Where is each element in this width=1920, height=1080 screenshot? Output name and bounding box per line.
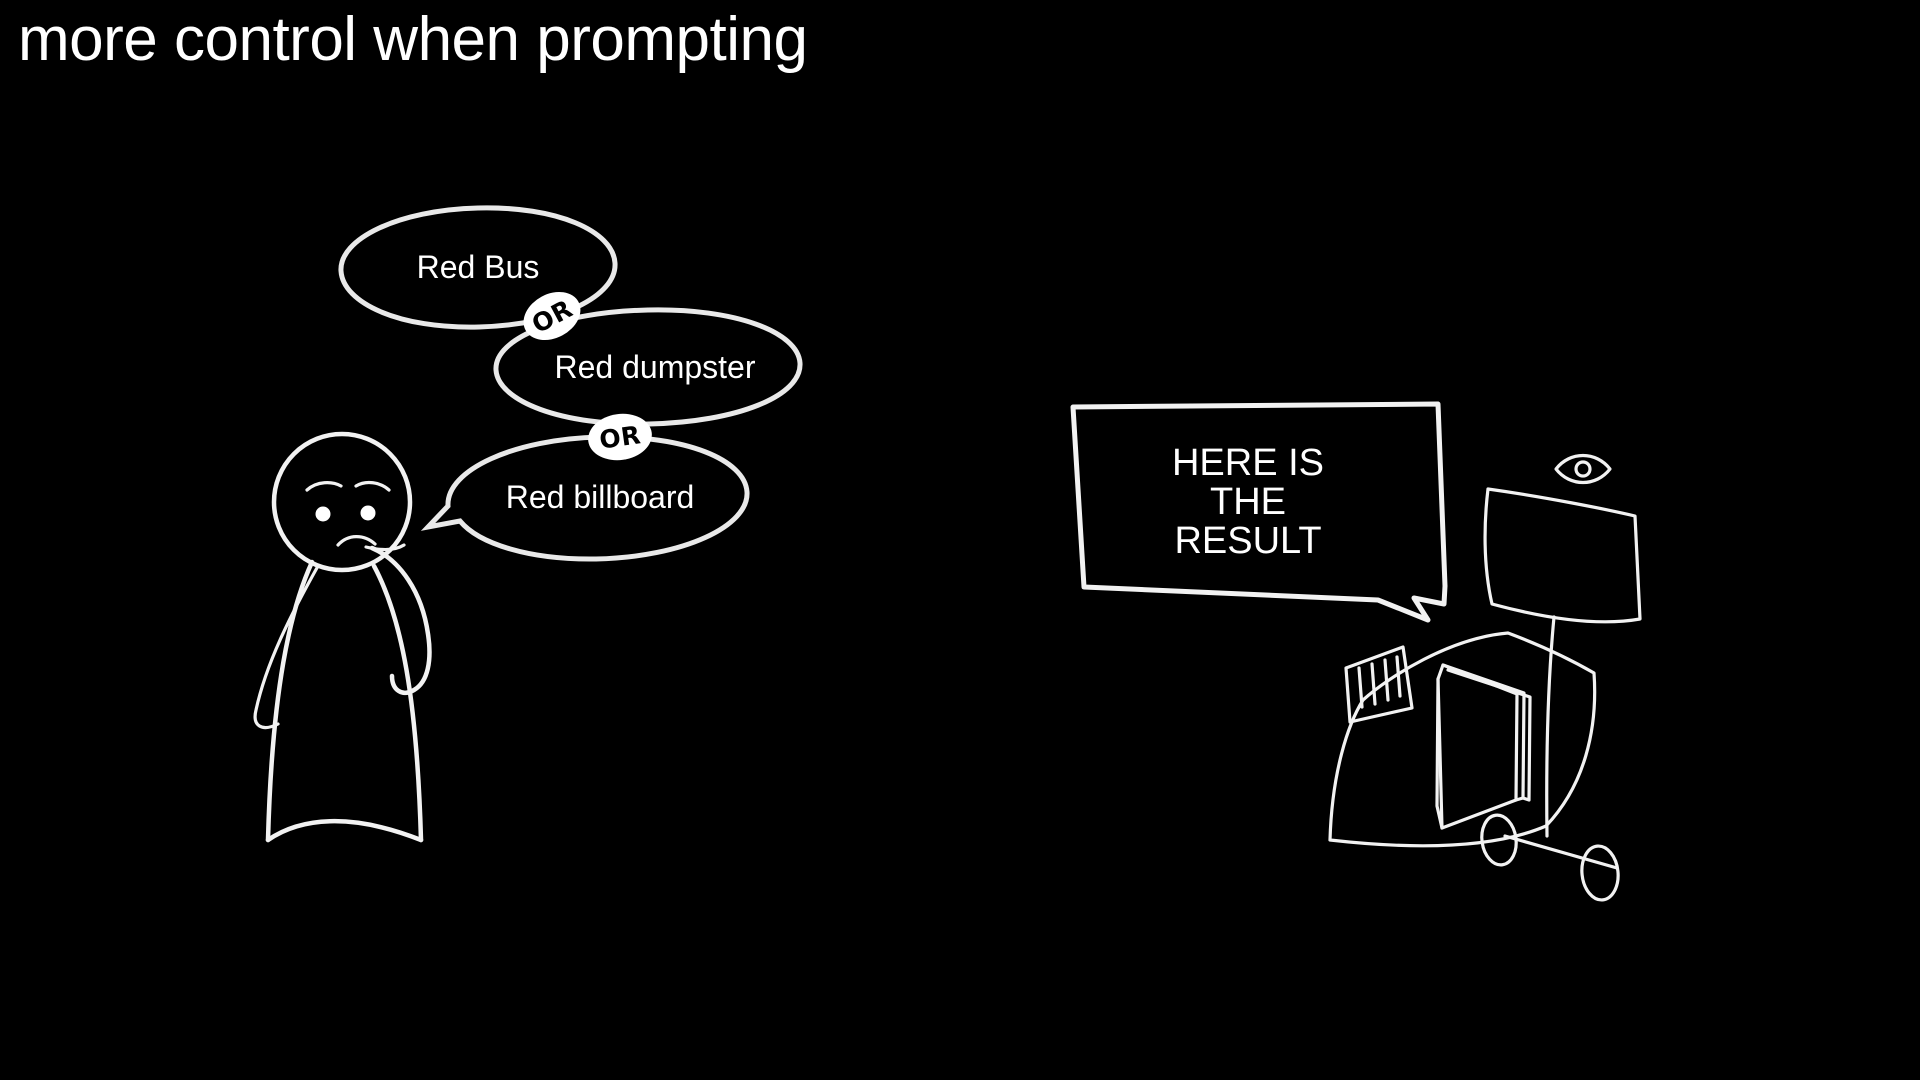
person-eye-right xyxy=(361,506,376,521)
eye-icon xyxy=(1556,456,1610,483)
cart-wheel-right xyxy=(1579,844,1620,901)
cart-frame xyxy=(1505,836,1617,868)
eye-icon-outline xyxy=(1556,456,1610,483)
bubble-label-3: Red billboard xyxy=(506,479,695,515)
person-arm-right xyxy=(372,548,429,693)
result-speech-bubble[interactable]: HERE IS THE RESULT xyxy=(1073,404,1445,620)
person-mouth xyxy=(338,537,375,545)
bubble-label-1: Red Bus xyxy=(417,249,540,285)
slide-canvas: more control when prompting Red Bus Red … xyxy=(0,0,1920,1080)
slide-artwork: Red Bus Red dumpster Red billboard OR OR xyxy=(0,0,1920,1080)
monitor-screen[interactable] xyxy=(1485,489,1640,622)
person-body-left xyxy=(268,562,312,840)
eye-icon-pupil xyxy=(1576,462,1590,476)
or-badge-1: OR xyxy=(515,282,589,349)
result-line-1: HERE IS xyxy=(1172,442,1324,484)
person-eyebrow-left xyxy=(307,483,341,490)
thinking-person xyxy=(255,434,429,840)
person-hem xyxy=(268,821,421,840)
person-body-right xyxy=(374,566,421,840)
bubble-label-2: Red dumpster xyxy=(555,349,756,385)
person-hand-to-chin xyxy=(366,545,404,549)
result-line-3: RESULT xyxy=(1174,520,1321,562)
open-book xyxy=(1437,665,1530,828)
ai-machine xyxy=(1330,456,1640,902)
person-eyebrow-right xyxy=(356,483,389,490)
or-badge-label-2: OR xyxy=(597,420,642,454)
result-line-2: THE xyxy=(1210,481,1286,523)
machine-body xyxy=(1330,633,1595,846)
person-eye-left xyxy=(316,507,331,522)
or-badge-2: OR xyxy=(585,410,655,464)
thought-bubble-red-billboard[interactable]: Red billboard xyxy=(428,437,747,559)
